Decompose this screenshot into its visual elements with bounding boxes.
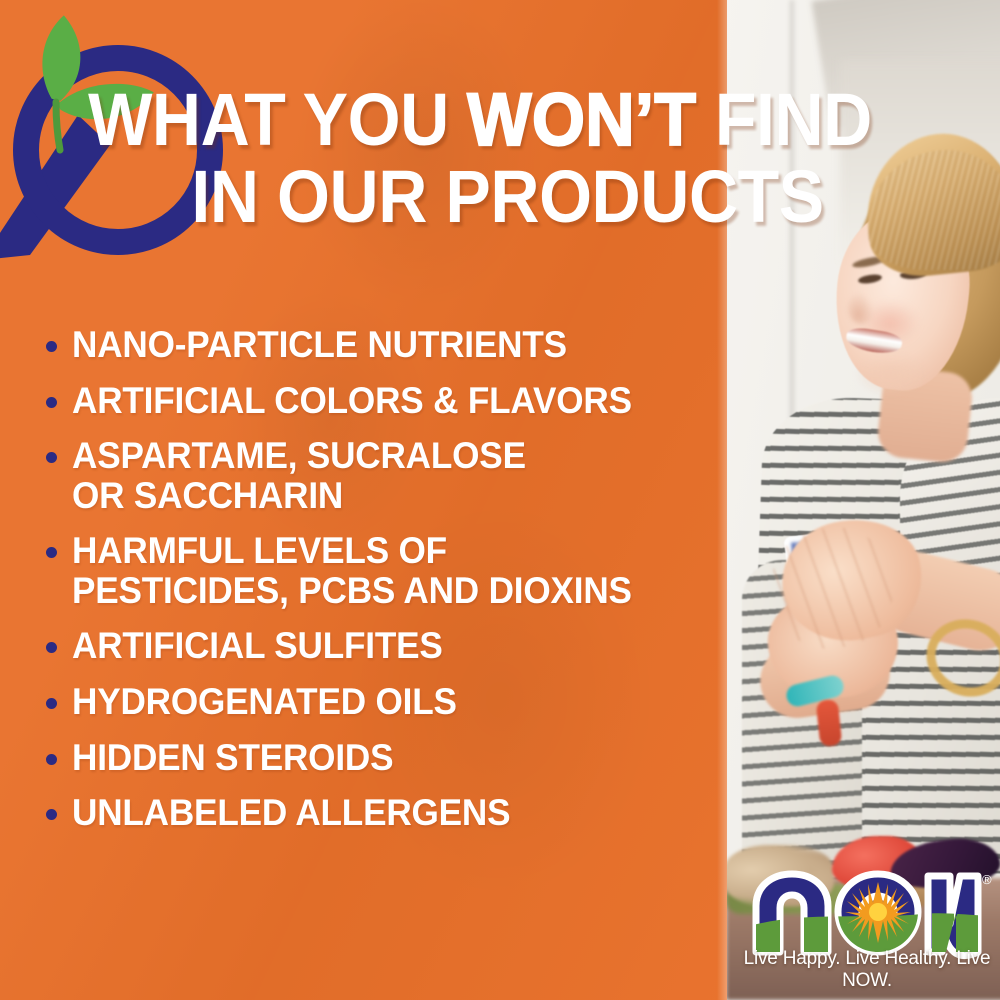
list-item-label: HARMFUL LEVELS OF PESTICIDES, PCBS AND D…	[72, 531, 632, 610]
list-item-label: NANO-PARTICLE NUTRIENTS	[72, 325, 567, 365]
bullet-dot-icon	[46, 642, 57, 653]
bullet-dot-icon	[46, 397, 57, 408]
bullet-dot-icon	[46, 809, 57, 820]
list-item: NANO-PARTICLE NUTRIENTS	[46, 325, 736, 365]
list-item-label: HYDROGENATED OILS	[72, 682, 457, 722]
poster-root: WHAT YOU WON’T FIND IN OUR PRODUCTS NANO…	[0, 0, 1000, 1000]
list-item: UNLABELED ALLERGENS	[46, 793, 736, 833]
bullet-dot-icon	[46, 452, 57, 463]
title-line-2: IN OUR PRODUCTS	[38, 161, 921, 234]
list-item: HARMFUL LEVELS OF PESTICIDES, PCBS AND D…	[46, 531, 736, 610]
bullet-dot-icon	[46, 341, 57, 352]
bullet-dot-icon	[46, 698, 57, 709]
registered-trademark-mark: ®	[982, 872, 992, 887]
excluded-ingredients-list: NANO-PARTICLE NUTRIENTS ARTIFICIAL COLOR…	[46, 325, 736, 849]
title-emphasis-wont: WON’T	[467, 78, 696, 161]
page-title: WHAT YOU WON’T FIND IN OUR PRODUCTS	[0, 84, 960, 233]
title-line-1: WHAT YOU WON’T FIND	[38, 84, 921, 157]
list-item-label: ARTIFICIAL COLORS & FLAVORS	[72, 381, 632, 421]
brand-tagline: Live Happy. Live Healthy. Live NOW.	[742, 948, 992, 992]
list-item: HYDROGENATED OILS	[46, 682, 736, 722]
list-item-label: UNLABELED ALLERGENS	[72, 793, 510, 833]
list-item: ASPARTAME, SUCRALOSE OR SACCHARIN	[46, 436, 736, 515]
woman-nose	[848, 292, 874, 324]
list-item-label: ASPARTAME, SUCRALOSE OR SACCHARIN	[72, 436, 526, 515]
list-item: ARTIFICIAL COLORS & FLAVORS	[46, 381, 736, 421]
title-line-1-post: FIND	[696, 78, 871, 161]
bullet-dot-icon	[46, 754, 57, 765]
list-item-label: HIDDEN STEROIDS	[72, 738, 393, 778]
title-line-1-pre: WHAT YOU	[88, 78, 467, 161]
list-item: HIDDEN STEROIDS	[46, 738, 736, 778]
list-item: ARTIFICIAL SULFITES	[46, 626, 736, 666]
woman-chin	[856, 352, 926, 396]
list-item-label: ARTIFICIAL SULFITES	[72, 626, 443, 666]
bullet-dot-icon	[46, 547, 57, 558]
